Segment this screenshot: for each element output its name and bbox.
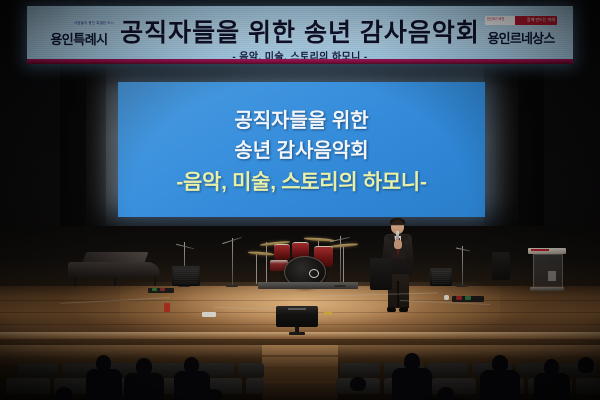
confidence-monitor-screen — [276, 306, 318, 327]
pedal-green — [152, 288, 157, 291]
audience-shoulders — [124, 373, 164, 400]
audience-head — [206, 389, 222, 400]
seat — [246, 378, 264, 394]
seat — [6, 378, 50, 394]
gaffer-tape-mark — [324, 312, 332, 315]
white-box-on-floor — [202, 312, 216, 317]
audience-shoulders — [174, 371, 210, 400]
confidence-monitor-foot — [289, 332, 305, 335]
presenter-shoe-left — [387, 307, 396, 312]
seat — [238, 363, 264, 377]
seated-audience — [0, 345, 600, 400]
led-header-banner: 사람들의 용인 특별한 도시 용인특례시 공직자들을 위한 송년 감사음악회 -… — [27, 6, 573, 64]
confidence-monitor-label — [288, 308, 306, 310]
audience-head — [56, 387, 72, 400]
wall-shadow-left — [60, 60, 106, 240]
acrylic-podium — [528, 248, 566, 292]
audience-shoulders — [392, 368, 432, 400]
presenter-arm-right — [404, 239, 415, 266]
slide-line-1: 공직자들을 위한 — [118, 104, 485, 133]
slide-line-2: 송년 감사음악회 — [118, 134, 485, 163]
center-aisle — [262, 345, 338, 400]
slide-line-3: -음악, 미술, 스토리의 하모니- — [118, 166, 485, 196]
seat — [576, 378, 600, 394]
red-marker-on-floor — [164, 303, 170, 312]
seat — [340, 363, 380, 377]
rack-tom-1 — [274, 244, 290, 260]
pedal-red-2 — [456, 296, 462, 300]
monitor-wedge-right — [430, 268, 452, 286]
podium-body — [533, 254, 563, 289]
renaissance-badge-right-text: 함께 만드는 미래 — [527, 18, 555, 22]
stage-amp-right — [492, 252, 510, 280]
banner-accent-strip — [27, 59, 573, 64]
cup-on-floor — [444, 295, 449, 300]
yongin-renaissance-wordmark: 용인르네상스 — [481, 28, 561, 47]
stage-amp-left — [370, 258, 392, 290]
hihat-cymbal — [248, 251, 274, 256]
renaissance-badge-bar: 민선8기 비전 함께 만드는 미래 — [485, 16, 557, 25]
pedal-red — [160, 288, 165, 291]
podium-name-plate — [531, 249, 549, 251]
auditorium-stage-photo: 사람들의 용인 특별한 도시 용인특례시 공직자들을 위한 송년 감사음악회 -… — [0, 0, 600, 400]
audience-shoulders — [534, 373, 570, 400]
wall-shadow-right — [484, 60, 544, 240]
renaissance-badge-left-text: 민선8기 비전 — [487, 18, 504, 21]
audience-head — [350, 377, 366, 391]
projection-slide: 공직자들을 위한 송년 감사음악회 -음악, 미술, 스토리의 하모니- — [118, 82, 485, 217]
audience-head — [578, 357, 594, 373]
yongin-renaissance-logo: 민선8기 비전 함께 만드는 미래 용인르네상스 — [481, 15, 561, 55]
grand-piano — [68, 252, 164, 286]
seat — [18, 363, 58, 377]
pedal-green-2 — [465, 296, 471, 300]
seat — [428, 363, 468, 377]
presenter-hands — [394, 240, 402, 249]
piano-body — [68, 262, 160, 278]
stage-confidence-monitor — [276, 306, 318, 333]
bass-drum-port-hole — [309, 269, 319, 278]
podium-emblem — [548, 271, 556, 281]
monitor-wedge-left — [172, 266, 200, 286]
presenter-shoe-right — [399, 307, 408, 312]
podium-base — [530, 287, 564, 291]
audience-shoulders — [480, 370, 520, 400]
audience-shoulders — [86, 369, 122, 400]
